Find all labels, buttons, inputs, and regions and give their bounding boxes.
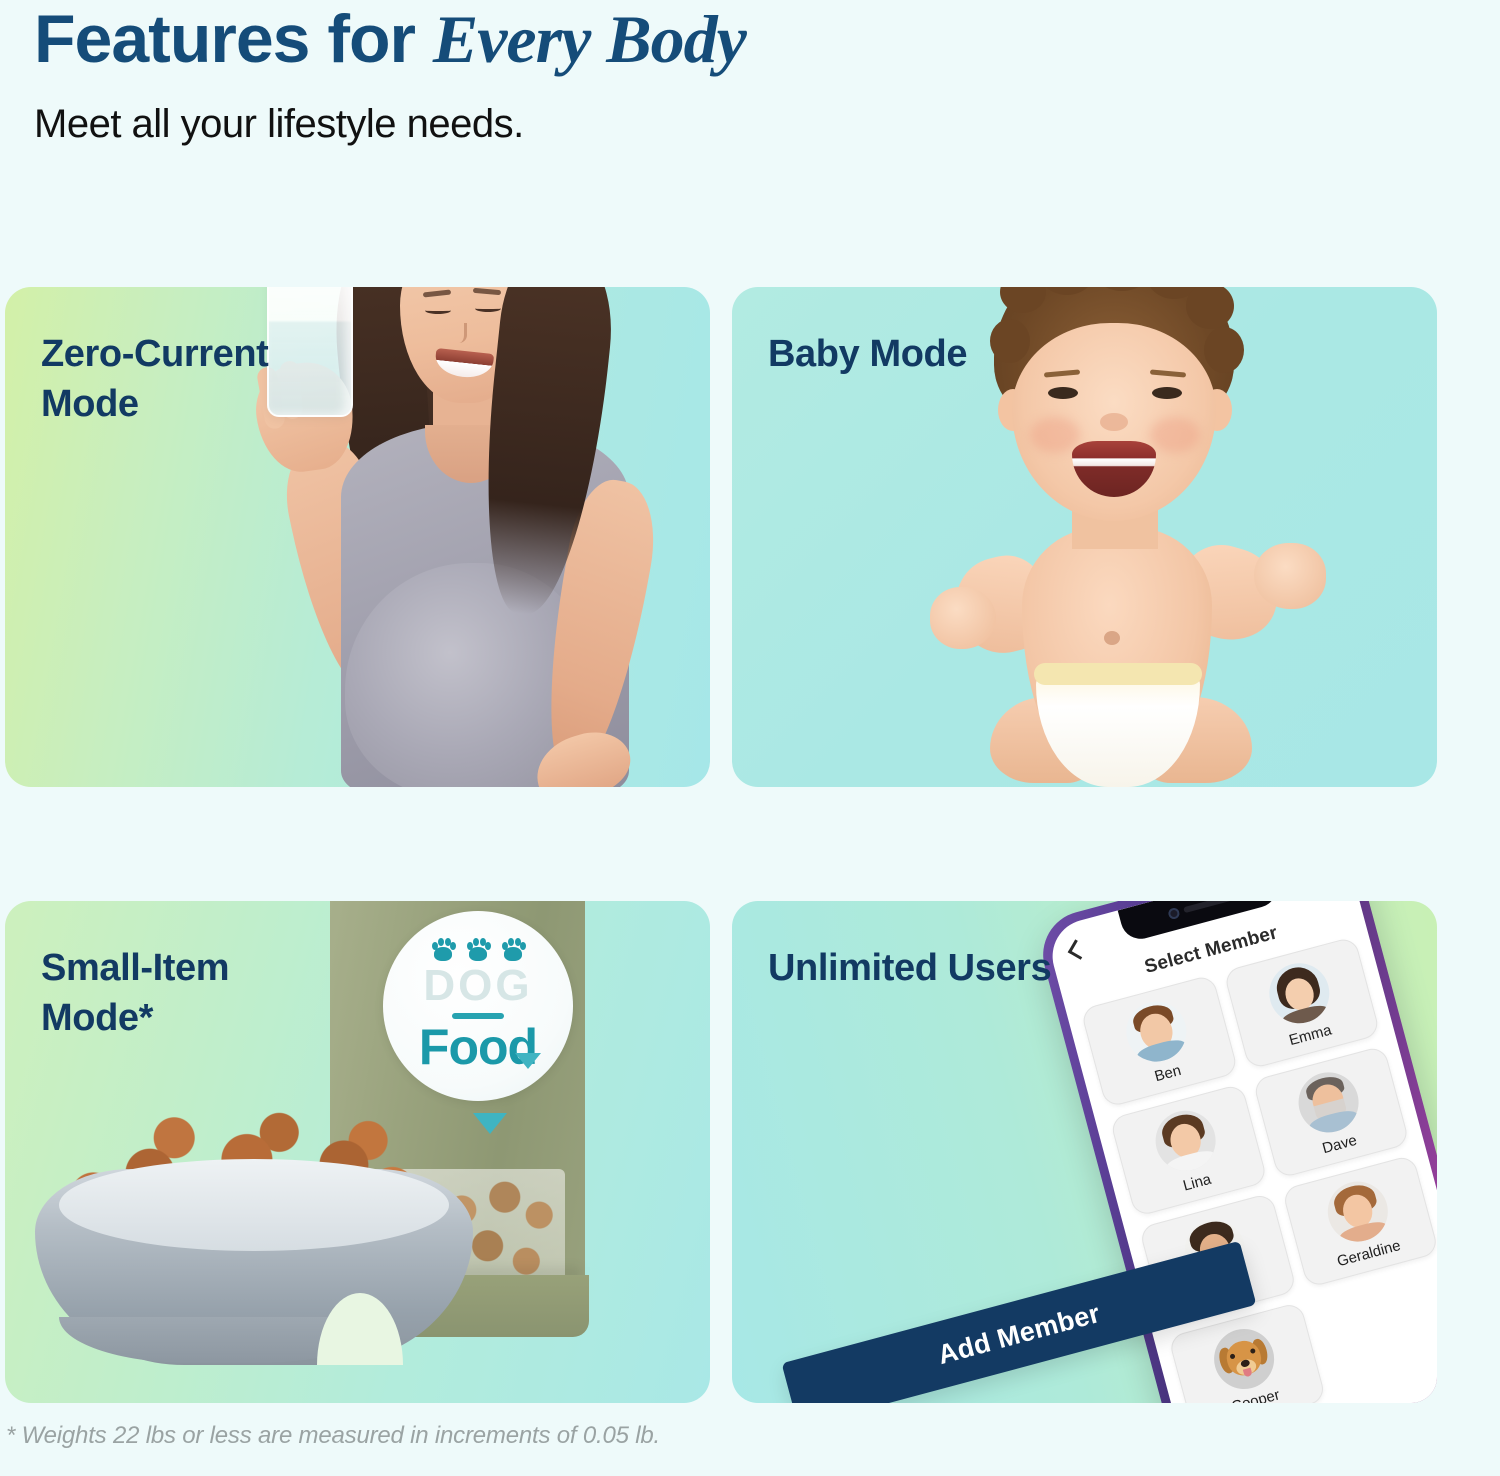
member-card-lina[interactable]: Lina — [1109, 1083, 1267, 1217]
card-label-zero-current-mode: Zero-Current Mode — [41, 329, 268, 429]
eye-right — [475, 305, 501, 312]
triangle-icon — [473, 1113, 507, 1134]
feature-card-zero-current-mode[interactable]: Zero-Current Mode — [5, 287, 710, 787]
paw-print-icon — [431, 938, 455, 962]
avatar-dog — [1208, 1322, 1281, 1395]
baby-left-fist — [930, 587, 996, 649]
avatar — [1292, 1066, 1365, 1139]
member-name: Cooper — [1230, 1386, 1282, 1403]
feature-card-baby-mode[interactable]: Baby Mode — [732, 287, 1437, 787]
baby-right-fist — [1254, 543, 1326, 609]
paw-print-row — [431, 938, 525, 962]
dog-food-label: DOG Food — [383, 911, 573, 1101]
member-card-emma[interactable]: Emma — [1223, 936, 1381, 1070]
baby-cheek-right — [1150, 417, 1200, 453]
hair-curl — [1204, 327, 1244, 373]
bowl-inner-rim — [59, 1159, 449, 1251]
paw-print-icon — [466, 938, 490, 962]
front-camera-icon — [1167, 907, 1180, 920]
add-member-button-label: Add Member — [935, 1297, 1104, 1370]
card-label-small-item-mode: Small-Item Mode* — [41, 943, 229, 1043]
page-header: Features for Every Body Meet all your li… — [34, 0, 746, 147]
member-card-dave[interactable]: Dave — [1252, 1045, 1410, 1179]
earpiece-speaker — [1183, 901, 1235, 913]
page-title: Features for Every Body — [34, 0, 746, 78]
member-name: Ben — [1153, 1062, 1183, 1085]
member-card-geraldine[interactable]: Geraldine — [1281, 1154, 1437, 1288]
avatar — [1262, 957, 1335, 1030]
paw-print-icon — [501, 938, 525, 962]
baby-cheek-left — [1030, 417, 1080, 453]
baby-navel — [1104, 631, 1120, 645]
nose — [453, 323, 467, 343]
avatar — [1149, 1104, 1222, 1177]
feature-card-small-item-mode[interactable]: DOG Food Small-Item Mode* — [5, 901, 710, 1403]
hair-curl — [990, 319, 1030, 363]
baby-diaper-band — [1034, 663, 1202, 685]
member-name: Dave — [1320, 1132, 1358, 1157]
bag-brand-top: DOG — [423, 964, 532, 1008]
baby-nose — [1100, 413, 1128, 431]
member-name: Lina — [1181, 1171, 1213, 1195]
member-card-ben[interactable]: Ben — [1080, 974, 1238, 1108]
baby-eye-right — [1152, 387, 1182, 399]
avatar — [1120, 995, 1193, 1068]
chevron-left-icon[interactable] — [1068, 939, 1088, 959]
page-subtitle: Meet all your lifestyle needs. — [34, 102, 746, 147]
feature-card-grid: Zero-Current Mode — [5, 287, 1437, 1403]
card-label-baby-mode: Baby Mode — [768, 329, 967, 379]
footnote: * Weights 22 lbs or less are measured in… — [6, 1422, 660, 1450]
avatar — [1321, 1175, 1394, 1248]
triangle-icon — [515, 1053, 541, 1069]
eye-left — [425, 307, 451, 314]
page-title-emphasis: Every Body — [433, 1, 746, 77]
feature-card-unlimited-users[interactable]: Select Member Ben — [732, 901, 1437, 1403]
baby-eye-left — [1048, 387, 1078, 399]
pregnant-woman-photo — [237, 287, 707, 787]
page-title-prefix: Features for — [34, 1, 433, 77]
card-label-unlimited-users: Unlimited Users — [768, 943, 1051, 993]
water-glass — [267, 287, 353, 417]
